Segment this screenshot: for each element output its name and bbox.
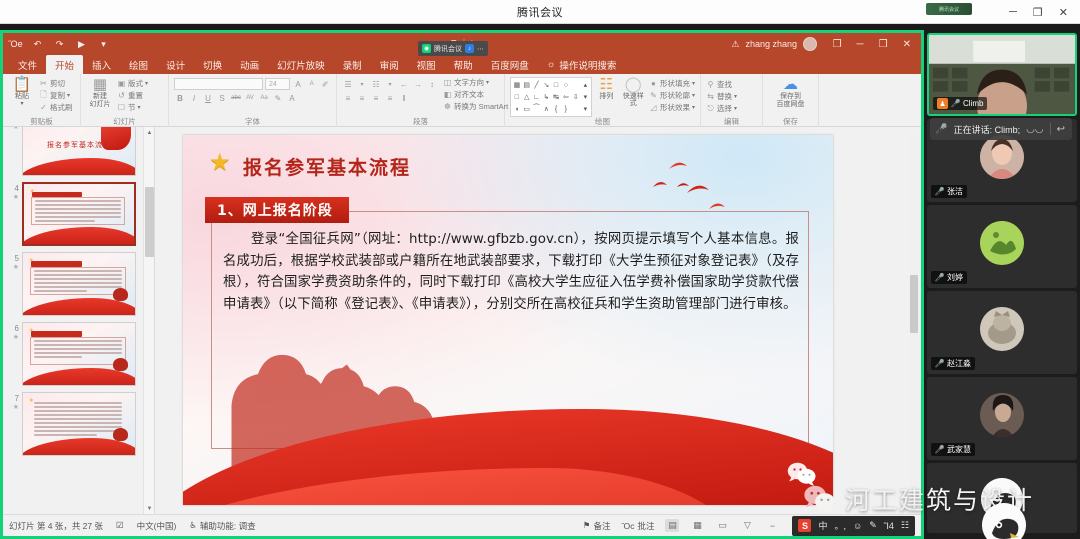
view-slideshow-button[interactable]: ▽	[740, 519, 754, 532]
notes-button[interactable]: ⚑ 备注	[583, 520, 611, 532]
quick-access-toolbar: Ὃe ↶ ↷ ▶ ▾	[9, 35, 110, 53]
participant-tile-zhaojiangmiao[interactable]: 🎤 赵江淼	[927, 291, 1077, 374]
avatar	[980, 221, 1024, 265]
text-direction-button[interactable]: ◫ 文字方向 ▾	[443, 77, 508, 88]
scrollbar-thumb[interactable]	[145, 187, 154, 257]
scroll-up-icon[interactable]: ▲	[144, 127, 155, 138]
shape-fill-button[interactable]: ● 形状填充 ▾	[649, 78, 695, 89]
customize-qat-icon[interactable]: ▾	[97, 38, 110, 51]
group-label-clipboard: 剪贴板	[3, 116, 80, 127]
thumbnail-item-3[interactable]: 3 ★ 报名参军基本流程	[3, 127, 154, 179]
ime-toolbox-icon[interactable]: ☷	[901, 520, 909, 531]
text-highlight-icon[interactable]: ✎	[272, 92, 284, 104]
arrange-icon: ☷	[600, 77, 613, 92]
shape-item[interactable]: △	[522, 91, 532, 103]
star-icon: ★	[209, 151, 231, 175]
participant-name: Climb	[963, 99, 983, 108]
powerpoint-window: Point Ὃe ↶ ↷ ▶ ▾ ⚠ zhang zhang ❐ ─ ❐	[3, 33, 921, 536]
tab-insert[interactable]: 插入	[83, 55, 120, 74]
select-button[interactable]: ⎋ 选择 ▾	[706, 103, 757, 114]
accessibility-label: 辅助功能: 调查	[200, 520, 256, 532]
thumbnail-image[interactable]: ★	[22, 252, 136, 316]
ime-voice-icon[interactable]: Ἲ4	[884, 521, 894, 531]
baidu-cloud-icon: ☁	[783, 77, 798, 92]
slide-count-label: 幻灯片 第 4 张，共 27 张	[9, 520, 103, 532]
thumbnail-image-selected[interactable]: ★	[22, 182, 136, 246]
group-label-slides: 幻灯片	[81, 116, 168, 127]
decrease-indent-button[interactable]: ←	[398, 78, 410, 90]
shape-item[interactable]: ▭	[522, 103, 532, 115]
thumbnail-number: 4	[15, 184, 19, 193]
numbering-button[interactable]: ☷	[370, 78, 382, 90]
thumbnail-image[interactable]: ★	[22, 392, 136, 456]
ppt-restore-button[interactable]: ❐	[879, 39, 888, 50]
group-label-save: 保存	[763, 116, 818, 127]
tab-help[interactable]: 帮助	[445, 55, 482, 74]
floating-meeting-toolbar[interactable]: ◉ 腾讯会议 ♪ ⋯	[418, 41, 488, 56]
bold-button[interactable]: B	[174, 92, 186, 104]
comments-label: 批注	[637, 520, 654, 532]
participant-nametag: 🎤 张洁	[931, 185, 967, 198]
shape-effects-dropdown-icon[interactable]: ▾	[692, 104, 695, 111]
font-name-input[interactable]	[174, 78, 263, 90]
shape-item[interactable]: ⏜	[532, 103, 542, 115]
comment-icon: Ὂc	[622, 521, 635, 531]
tab-slideshow[interactable]: 幻灯片放映	[268, 55, 334, 74]
shrink-font-button[interactable]: A	[306, 78, 318, 90]
avatar-portrait	[980, 393, 1024, 437]
layout-button[interactable]: ▣ 版式 ▾	[117, 78, 148, 89]
participant-nametag: 🎤 武家慧	[931, 443, 975, 456]
speaker-icon[interactable]: ♪	[465, 44, 474, 53]
microphone-off-icon[interactable]: 🎤	[935, 273, 944, 282]
watermark-avatar	[982, 503, 1026, 539]
meeting-window-controls: ─ ❐ ✕	[1009, 0, 1076, 24]
lightbulb-icon: ☼	[547, 59, 556, 70]
ribbon-group-drawing: ▦ ▤ ╱ ↘ □ ○ ▴ □ △ ∟ ↳ ↹	[505, 74, 701, 127]
animation-star-icon: ★	[7, 404, 19, 413]
align-right-button[interactable]: ≡	[370, 92, 382, 104]
shape-item[interactable]: ○	[561, 79, 571, 91]
ribbon-group-clipboard: 📋 粘贴 ▾ ✂ 剪切 🗋 复制 ▾	[3, 74, 81, 127]
scissors-icon: ✂	[39, 79, 48, 88]
shape-outline-dropdown-icon[interactable]: ▾	[692, 92, 695, 99]
tab-transitions[interactable]: 切换	[194, 55, 231, 74]
character-spacing-button[interactable]: AV	[244, 92, 256, 104]
shape-item[interactable]: □	[512, 91, 522, 103]
ribbon-group-save: ☁ 保存到 百度网盘 保存	[763, 74, 819, 127]
tab-animations[interactable]: 动画	[231, 55, 268, 74]
slide-editing-pane: ★ 报名参军基本流程 1、网上报名阶段 登录“全国征兵网”（网址：http://…	[155, 127, 921, 514]
slide-scrollbar-thumb[interactable]	[910, 275, 918, 333]
shape-item[interactable]: □	[551, 79, 561, 91]
thumbnail-number: 5	[15, 254, 19, 263]
shape-item[interactable]: ∟	[532, 91, 542, 103]
line-spacing-button[interactable]: ↕	[426, 78, 438, 90]
account-warning-icon: ⚠	[731, 39, 739, 50]
shapes-scroll-down[interactable]: ▾	[581, 91, 591, 103]
change-case-button[interactable]: Aa	[258, 92, 270, 104]
increase-indent-button[interactable]: →	[412, 78, 424, 90]
bullets-button[interactable]: ☰	[342, 78, 354, 90]
reset-icon: ↺	[117, 91, 126, 100]
participant-tile-climb[interactable]: ♟ 🎤 Climb	[927, 33, 1077, 116]
animation-star-icon: ★	[7, 194, 19, 203]
convert-smartart-button[interactable]: ☸ 转换为 SmartArt	[443, 101, 508, 112]
tab-draw[interactable]: 绘图	[120, 55, 157, 74]
speaking-banner-text: 正在讲话: Climb;	[954, 123, 1021, 136]
ribbon-home: 📋 粘贴 ▾ ✂ 剪切 🗋 复制 ▾	[3, 74, 921, 127]
notes-label: 备注	[594, 520, 611, 532]
participant-name: 赵江淼	[947, 358, 971, 369]
avatar	[980, 135, 1024, 179]
layout-icon: ▣	[117, 79, 126, 88]
animation-star-icon: ★	[7, 127, 19, 133]
ribbon-group-editing: ⚲ 查找 ⇆ 替换 ▾ ⎋ 选择 ▾	[701, 74, 763, 127]
participant-rail: ♟ 🎤 Climb 🎤 张洁	[924, 30, 1080, 539]
shape-item[interactable]: ↳	[541, 91, 551, 103]
shape-item[interactable]: ∧	[541, 103, 551, 115]
status-bar-right: ⚑ 备注 Ὂc 批注 ▤ ▦ ▭ ▽ − S 中 。,	[583, 516, 915, 536]
thumbnail-item-6[interactable]: 6 ★ ★	[3, 319, 154, 389]
font-color-button[interactable]: A	[286, 92, 298, 104]
notes-icon: ⚑	[583, 520, 591, 531]
paste-button[interactable]: 📋 粘贴 ▾	[8, 77, 36, 108]
account-area: ⚠ zhang zhang	[731, 33, 817, 55]
ime-punctuation-button[interactable]: 。,	[835, 519, 847, 532]
microphone-off-icon[interactable]: 🎤	[935, 187, 944, 196]
thumbnail-image[interactable]: 报名参军基本流程	[22, 127, 136, 176]
search-icon: ⚲	[706, 80, 715, 89]
tab-file[interactable]: 文件	[9, 55, 46, 74]
italic-button[interactable]: I	[188, 92, 200, 104]
collapse-banner-icon[interactable]: ↩	[1057, 124, 1065, 135]
ribbon-group-font: 24 A A ✐ B I U S abc AV Aa	[169, 74, 337, 127]
spellcheck-icon[interactable]: ☑	[116, 520, 124, 531]
meeting-titlebar: 腾讯会议 腾讯会议 ─ ❐ ✕	[0, 0, 1080, 24]
format-painter-button[interactable]: ✓ 格式刷	[39, 102, 73, 113]
shared-screen-region: Point Ὃe ↶ ↷ ▶ ▾ ⚠ zhang zhang ❐ ─ ❐	[0, 30, 924, 539]
shape-item[interactable]: ↘	[541, 79, 551, 91]
account-name[interactable]: zhang zhang	[745, 39, 797, 49]
find-button[interactable]: ⚲ 查找	[706, 79, 757, 90]
arrange-button[interactable]: ☷ 排列	[595, 77, 617, 100]
reset-button[interactable]: ↺ 重置	[117, 90, 148, 101]
section-button[interactable]: ☐ 节 ▾	[117, 102, 148, 113]
powerpoint-status-bar: 幻灯片 第 4 张，共 27 张 ☑ 中文(中国) ♿ 辅助功能: 调查 ⚑ 备…	[3, 514, 921, 536]
participant-tile-wujiahui[interactable]: 🎤 武家慧	[927, 377, 1077, 460]
meeting-minimize-button[interactable]: ─	[1009, 6, 1017, 18]
text-direction-icon: ◫	[443, 78, 452, 87]
avatar-cat-photo	[980, 307, 1024, 351]
ribbon-group-paragraph: ☰ ▾ ☷ ▾ ← → ↕ ≡ ≡ ≡	[337, 74, 505, 127]
sogou-ime-toolbar[interactable]: S 中 。, ☺ ✎ Ἲ4 ☷	[792, 516, 915, 536]
tab-review[interactable]: 审阅	[371, 55, 408, 74]
paste-label: 粘贴	[15, 93, 29, 100]
group-label-editing: 编辑	[701, 116, 762, 127]
meeting-window-title: 腾讯会议	[517, 4, 563, 20]
tab-baidu-netdisk[interactable]: 百度网盘	[482, 55, 538, 74]
shape-item[interactable]: ◖	[512, 103, 522, 115]
shape-item[interactable]: {	[551, 103, 561, 115]
thumbnail-number: 7	[15, 394, 19, 403]
paste-icon: 📋	[13, 77, 32, 92]
shape-outline-icon: ✎	[649, 91, 658, 100]
new-slide-label-1: 新建	[93, 93, 107, 100]
scroll-down-icon[interactable]: ▼	[144, 503, 155, 514]
camera-icon[interactable]: ◉	[422, 44, 431, 53]
comments-button[interactable]: Ὂc 批注	[622, 520, 655, 532]
grow-font-button[interactable]: A	[292, 78, 304, 90]
paintbrush-icon: ✓	[39, 103, 48, 112]
zoom-out-button[interactable]: −	[765, 519, 779, 532]
meeting-badge: 腾讯会议	[926, 3, 972, 15]
copy-dropdown-icon[interactable]: ▾	[67, 92, 70, 99]
shape-item[interactable]: ╱	[532, 79, 542, 91]
shape-item[interactable]	[571, 79, 581, 91]
participant-name: 张洁	[947, 186, 963, 197]
new-slide-icon: ▦	[93, 77, 107, 92]
view-normal-button[interactable]: ▤	[665, 519, 679, 532]
accessibility-status[interactable]: ♿ 辅助功能: 调查	[189, 520, 255, 532]
ribbon-display-options-icon[interactable]: ❐	[833, 39, 842, 50]
meeting-close-button[interactable]: ✕	[1059, 6, 1068, 19]
replace-icon: ⇆	[706, 92, 715, 101]
ribbon-tabs: 文件 开始 插入 绘图 设计 切换 动画 幻灯片放映 录制 审阅 视图 帮助 百…	[3, 55, 921, 74]
avatar[interactable]	[803, 37, 817, 51]
wechat-logo-icon	[787, 459, 817, 489]
select-icon: ⎋	[706, 104, 715, 114]
underline-button[interactable]: U	[202, 92, 214, 104]
start-slideshow-icon[interactable]: ▶	[75, 38, 88, 51]
shapes-gallery[interactable]: ▦ ▤ ╱ ↘ □ ○ ▴ □ △ ∟ ↳ ↹	[510, 77, 592, 117]
tell-me-label: 操作说明搜索	[559, 58, 616, 72]
thumbnail-item-7[interactable]: 7 ★ ★	[3, 389, 154, 459]
accessibility-icon: ♿	[189, 520, 197, 531]
meeting-maximize-button[interactable]: ❐	[1033, 6, 1043, 19]
save-icon[interactable]: Ὃe	[9, 38, 22, 51]
view-slide-sorter-button[interactable]: ▦	[690, 519, 704, 532]
tencent-meeting-window: 腾讯会议 腾讯会议 ─ ❐ ✕ Point Ὃe ↶ ↷ ▶ ▾ ⚠	[0, 0, 1080, 539]
text-direction-dropdown-icon[interactable]: ▾	[486, 79, 489, 86]
shape-effects-button[interactable]: ◿ 形状效果 ▾	[649, 102, 695, 113]
shape-item[interactable]	[571, 103, 581, 115]
shape-outline-button[interactable]: ✎ 形状轮廓 ▾	[649, 90, 695, 101]
view-reading-button[interactable]: ▭	[715, 519, 729, 532]
ime-mode-button[interactable]: 中	[818, 519, 827, 532]
tab-view[interactable]: 视图	[408, 55, 445, 74]
undo-icon[interactable]: ↶	[31, 38, 44, 51]
layout-dropdown-icon[interactable]: ▾	[145, 80, 148, 87]
clear-formatting-icon[interactable]: ✐	[319, 78, 331, 90]
group-label-font: 字体	[169, 116, 336, 127]
participant-nametag: 🎤 刘婷	[931, 271, 967, 284]
shape-fill-dropdown-icon[interactable]: ▾	[692, 80, 695, 87]
watermark-avatar-art	[982, 503, 1026, 539]
thumbnail-title: 报名参军基本流程	[23, 140, 135, 150]
slide-section-label[interactable]: 1、网上报名阶段	[205, 197, 349, 223]
shape-item[interactable]: ▤	[522, 79, 532, 91]
save-to-baidu-netdisk-button[interactable]: ☁ 保存到 百度网盘	[768, 77, 813, 109]
slide-title[interactable]: 报名参军基本流程	[243, 153, 411, 180]
shape-item[interactable]: ▦	[512, 79, 522, 91]
thumbnail-item-5[interactable]: 5 ★ ★	[3, 249, 154, 319]
section-dropdown-icon[interactable]: ▾	[138, 104, 141, 111]
align-text-icon: ◧	[443, 90, 452, 99]
copy-button[interactable]: 🗋 复制 ▾	[39, 90, 73, 101]
shape-item[interactable]: ⇦	[561, 91, 571, 103]
shapes-more[interactable]: ▾	[581, 103, 591, 115]
avatar	[980, 307, 1024, 351]
thumbnail-scrollbar[interactable]: ▲ ▼	[143, 127, 154, 514]
speaking-banner: 🎤 正在讲话: Climb; ◡◡ ↩	[930, 118, 1072, 140]
powerpoint-main-area: 3 ★ 报名参军基本流程 4	[3, 127, 921, 514]
floating-meeting-more-icon[interactable]: ⋯	[477, 45, 484, 53]
animation-star-icon: ★	[7, 264, 19, 273]
shape-item[interactable]: ⇩	[571, 91, 581, 103]
tell-me-search[interactable]: ☼ 操作说明搜索	[538, 55, 626, 74]
thumbnail-number: 6	[15, 324, 19, 333]
strikethrough-button[interactable]: abc	[230, 92, 242, 104]
align-text-button[interactable]: ◧ 对齐文本	[443, 89, 508, 100]
replace-dropdown-icon[interactable]: ▾	[734, 93, 737, 100]
justify-button[interactable]: ≡	[384, 92, 396, 104]
font-size-input[interactable]: 24	[265, 78, 290, 90]
new-slide-label-2: 幻灯片	[90, 101, 111, 108]
redo-icon[interactable]: ↷	[53, 38, 66, 51]
copy-icon: 🗋	[39, 89, 48, 103]
sound-wave-icon: ◡◡	[1026, 124, 1043, 135]
smartart-icon: ☸	[443, 102, 452, 111]
group-label-paragraph: 段落	[337, 116, 504, 127]
cut-button[interactable]: ✂ 剪切	[39, 78, 73, 89]
numbering-dropdown-icon[interactable]: ▾	[384, 78, 396, 90]
align-left-button[interactable]: ≡	[342, 92, 354, 104]
tab-home[interactable]: 开始	[46, 55, 83, 74]
animation-star-icon: ★	[7, 334, 19, 343]
ppt-minimize-button[interactable]: ─	[857, 39, 864, 50]
select-dropdown-icon[interactable]: ▾	[734, 105, 737, 112]
language-label[interactable]: 中文(中国)	[137, 520, 177, 532]
text-shadow-button[interactable]: S	[216, 92, 228, 104]
participant-name: 武家慧	[947, 444, 971, 455]
shape-fill-icon: ●	[649, 79, 658, 88]
sogou-logo-icon[interactable]: S	[798, 519, 811, 532]
columns-button[interactable]: ‖	[398, 92, 410, 104]
slide-thumbnail-pane[interactable]: 3 ★ 报名参军基本流程 4	[3, 127, 155, 514]
participant-nametag: 🎤 赵江淼	[931, 357, 975, 370]
ppt-close-button[interactable]: ✕	[903, 39, 911, 50]
participant-nametag: ♟ 🎤 Climb	[933, 97, 987, 110]
shape-effects-icon: ◿	[649, 103, 658, 112]
avatar-leaf-art	[980, 221, 1024, 265]
shape-item[interactable]: ↹	[551, 91, 561, 103]
shapes-scroll-up[interactable]: ▴	[581, 79, 591, 91]
microphone-off-icon[interactable]: 🎤	[935, 359, 944, 368]
quick-styles-button[interactable]: ◯ 快速样式	[620, 77, 646, 108]
powerpoint-window-controls: ❐ ─ ❐ ✕	[833, 33, 917, 55]
host-badge-icon: ♟	[937, 98, 948, 109]
tab-design[interactable]: 设计	[157, 55, 194, 74]
microphone-muted-icon: 🎤	[935, 124, 947, 135]
shape-item[interactable]: }	[561, 103, 571, 115]
group-label-drawing: 绘图	[505, 116, 700, 127]
paste-dropdown-icon[interactable]: ▾	[20, 101, 23, 107]
slide-scrollbar[interactable]	[909, 135, 919, 505]
new-slide-button[interactable]: ▦ 新建 幻灯片	[86, 77, 114, 109]
quick-styles-icon: ◯	[625, 77, 642, 92]
microphone-off-icon[interactable]: 🎤	[935, 445, 944, 454]
avatar-portrait	[980, 135, 1024, 179]
avatar	[980, 393, 1024, 437]
ime-skin-icon[interactable]: ✎	[869, 520, 877, 531]
ribbon-group-slides: ▦ 新建 幻灯片 ▣ 版式 ▾ ↺ 重置	[81, 74, 169, 127]
align-center-button[interactable]: ≡	[356, 92, 368, 104]
ime-emoji-icon[interactable]: ☺	[853, 521, 862, 531]
slide-canvas[interactable]: ★ 报名参军基本流程 1、网上报名阶段 登录“全国征兵网”（网址：http://…	[183, 135, 833, 505]
participant-name: 刘婷	[947, 272, 963, 283]
tab-record[interactable]: 录制	[334, 55, 371, 74]
participant-tile-liuting[interactable]: 🎤 刘婷	[927, 205, 1077, 288]
thumbnail-image[interactable]: ★	[22, 322, 136, 386]
bullets-dropdown-icon[interactable]: ▾	[356, 78, 368, 90]
section-icon: ☐	[117, 103, 126, 112]
floating-meeting-label: 腾讯会议	[434, 44, 462, 54]
replace-button[interactable]: ⇆ 替换 ▾	[706, 91, 757, 102]
thumbnail-item-4[interactable]: 4 ★ ★	[3, 179, 154, 249]
microphone-on-icon[interactable]: 🎤	[951, 99, 960, 108]
